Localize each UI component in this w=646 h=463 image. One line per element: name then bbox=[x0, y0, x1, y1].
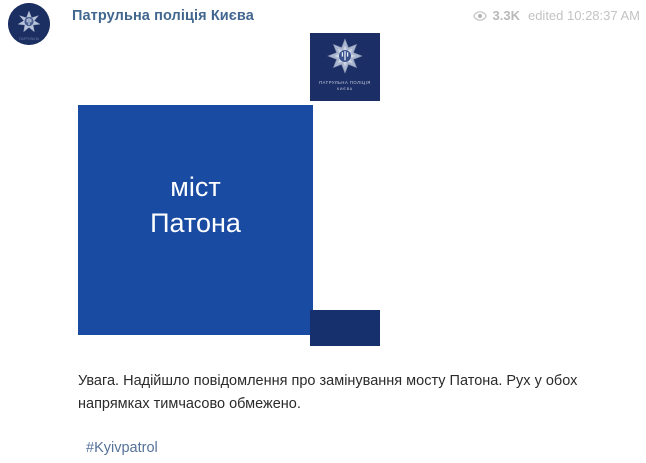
banner-line-2: Патона bbox=[78, 205, 313, 241]
accent-block bbox=[310, 310, 380, 346]
banner-text: міст Патона bbox=[78, 169, 313, 241]
message-body: Увага. Надійшло повідомлення про замінув… bbox=[78, 370, 578, 416]
logo-caption-line1: ПАТРУЛЬНА ПОЛІЦІЯ bbox=[319, 80, 371, 85]
police-star-badge-icon bbox=[325, 37, 365, 77]
logo-card: ПАТРУЛЬНА ПОЛІЦІЯ КИЄВА bbox=[310, 33, 380, 101]
banner-line-1: міст bbox=[78, 169, 313, 205]
banner-panel: міст Патона bbox=[78, 105, 313, 335]
post-media[interactable]: ПАТРУЛЬНА ПОЛІЦІЯ КИЄВА міст Патона bbox=[0, 0, 646, 360]
logo-caption-line2: КИЄВА bbox=[337, 87, 353, 91]
hashtag-link[interactable]: #Kyivpatrol bbox=[86, 440, 158, 456]
